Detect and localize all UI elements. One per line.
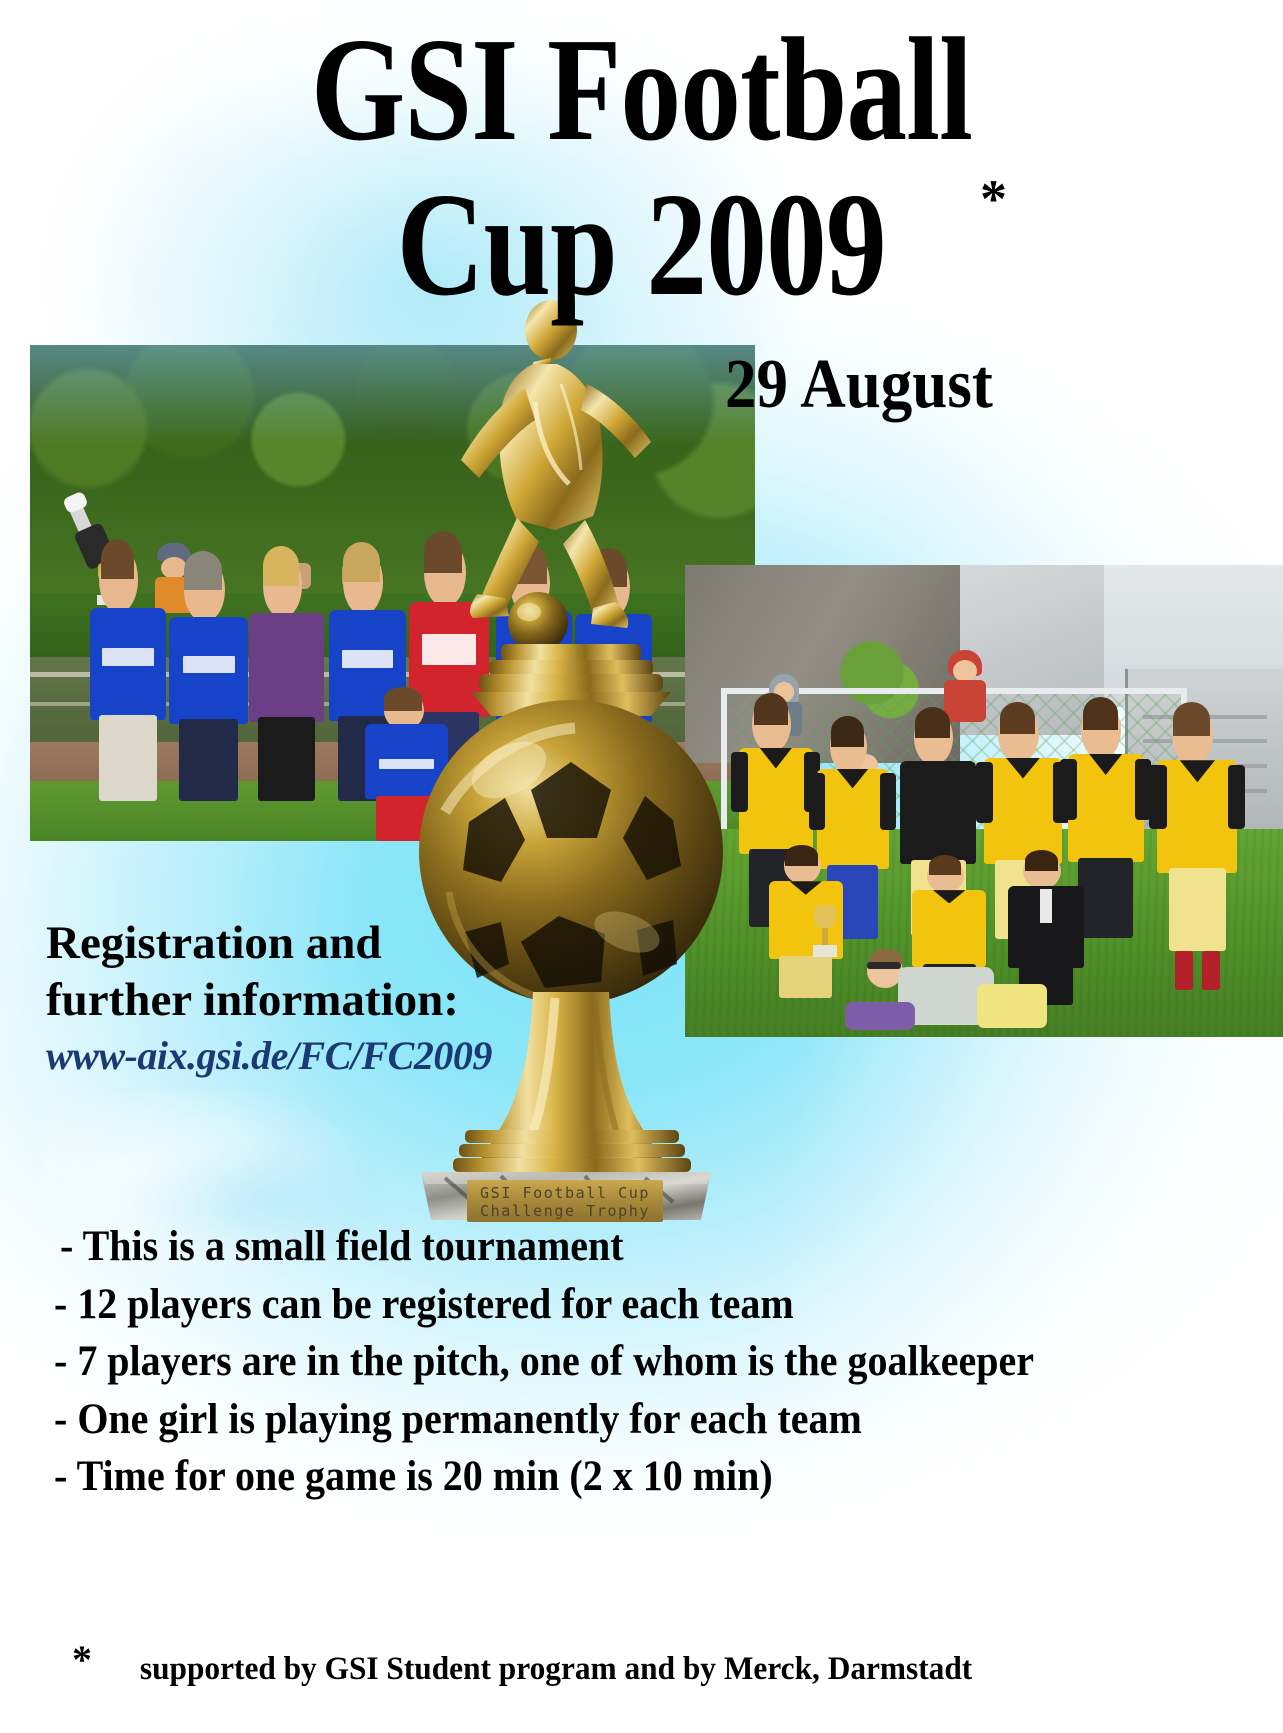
player-blue	[168, 558, 250, 801]
registration-heading: Registration and further information:	[46, 915, 459, 1030]
rule-item: - 7 players are in the pitch, one of who…	[54, 1333, 1151, 1391]
player-lying	[840, 945, 1060, 1037]
rule-item: - One girl is playing permanently for ea…	[54, 1391, 1151, 1449]
footnote-asterisk: *	[72, 1637, 92, 1682]
plaque-line-1: GSI Football Cup	[480, 1184, 650, 1202]
trophy-base-rings	[453, 1130, 691, 1172]
poster-title-line-2-wrapper: Cup 2009	[0, 160, 1283, 330]
footnote: *supported by GSI Student program and by…	[72, 1636, 994, 1688]
poster-title-line-1: GSI Football	[115, 18, 1167, 163]
footballer-figurine	[461, 300, 651, 628]
player-yellow	[1157, 707, 1237, 951]
challenge-trophy: GSI Football Cup Challenge Trophy	[405, 292, 735, 1222]
poster-canvas: GSI Football Cup Challenge Trophy GSI Fo…	[0, 0, 1283, 1733]
player-goalkeeper	[248, 553, 326, 801]
event-date: 29 August	[725, 345, 993, 425]
figurine-ball	[508, 592, 568, 652]
registration-line-1: Registration and	[46, 915, 459, 972]
trophy-plaque: GSI Football Cup Challenge Trophy	[467, 1180, 663, 1222]
yellow-team-photo	[685, 565, 1283, 1037]
rule-item: - Time for one game is 20 min (2 x 10 mi…	[54, 1448, 1151, 1506]
rule-item: - This is a small field tournament	[60, 1218, 1152, 1276]
rules-list: - This is a small field tournament - 12 …	[54, 1218, 1234, 1506]
registration-url[interactable]: www-aix.gsi.de/FC/FC2009	[46, 1032, 492, 1079]
registration-line-2: further information:	[46, 972, 459, 1029]
poster-title-line-2: Cup 2009	[397, 160, 886, 330]
footnote-text: supported by GSI Student program and by …	[140, 1651, 972, 1688]
small-trophy-held	[811, 905, 839, 963]
rule-item: - 12 players can be registered for each …	[54, 1276, 1151, 1334]
player-blue	[88, 546, 168, 801]
title-asterisk: *	[980, 168, 1007, 230]
trophy-ball	[419, 700, 723, 1004]
